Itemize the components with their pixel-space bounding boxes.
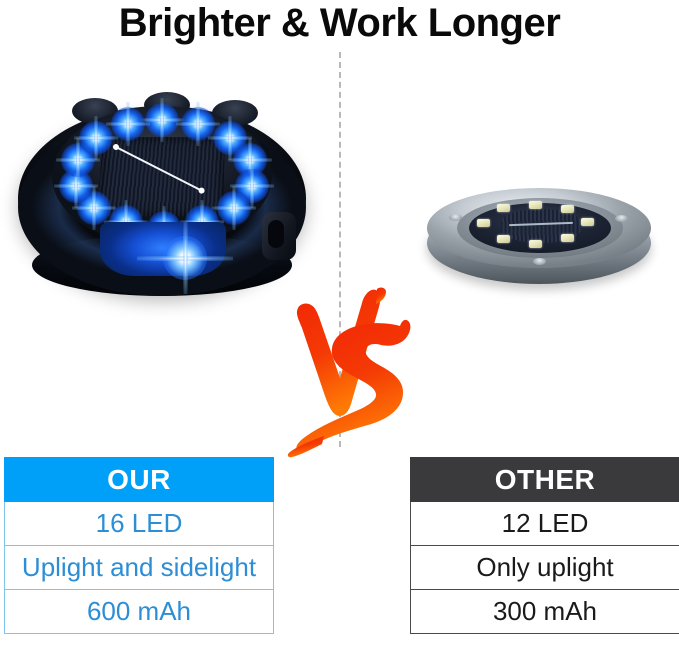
- led-chip: [561, 234, 574, 242]
- led-chip: [497, 204, 510, 212]
- side-port-opening: [268, 220, 284, 248]
- table-row: 600 mAh: [5, 590, 274, 634]
- led-chip: [561, 205, 574, 213]
- sidelight-alcove: [100, 222, 226, 276]
- table-row: Uplight and sidelight: [5, 546, 274, 590]
- our-spec-led: 16 LED: [5, 502, 274, 546]
- led-light: [111, 107, 145, 141]
- led-light: [79, 121, 113, 155]
- led-chip: [497, 235, 510, 243]
- our-comparison-table: OUR 16 LED Uplight and sidelight 600 mAh: [4, 457, 274, 634]
- table-row: Only uplight: [411, 546, 679, 590]
- table-header-row: OUR: [5, 458, 274, 502]
- led-chip: [477, 219, 490, 227]
- table-header-row: OTHER: [411, 458, 679, 502]
- led-chip: [529, 240, 542, 248]
- other-product-image: [425, 178, 655, 290]
- other-spec-led: 12 LED: [411, 502, 679, 546]
- sidelight-beam: [163, 236, 207, 280]
- other-spec-battery: 300 mAh: [411, 590, 679, 634]
- vs-badge-icon: [282, 286, 418, 458]
- led-chip: [581, 218, 594, 226]
- screw-icon: [533, 258, 546, 265]
- page-title: Brighter & Work Longer: [0, 0, 679, 46]
- our-spec-lighting: Uplight and sidelight: [5, 546, 274, 590]
- table-row: 12 LED: [411, 502, 679, 546]
- other-comparison-table: OTHER 12 LED Only uplight 300 mAh: [410, 457, 679, 634]
- led-light: [145, 103, 179, 137]
- led-chip: [529, 201, 542, 209]
- other-table-header: OTHER: [411, 458, 679, 502]
- table-row: 16 LED: [5, 502, 274, 546]
- our-product-image: [12, 84, 312, 299]
- table-row: 300 mAh: [411, 590, 679, 634]
- other-spec-lighting: Only uplight: [411, 546, 679, 590]
- our-table-header: OUR: [5, 458, 274, 502]
- our-spec-battery: 600 mAh: [5, 590, 274, 634]
- screw-icon: [449, 214, 462, 221]
- screw-icon: [615, 215, 628, 222]
